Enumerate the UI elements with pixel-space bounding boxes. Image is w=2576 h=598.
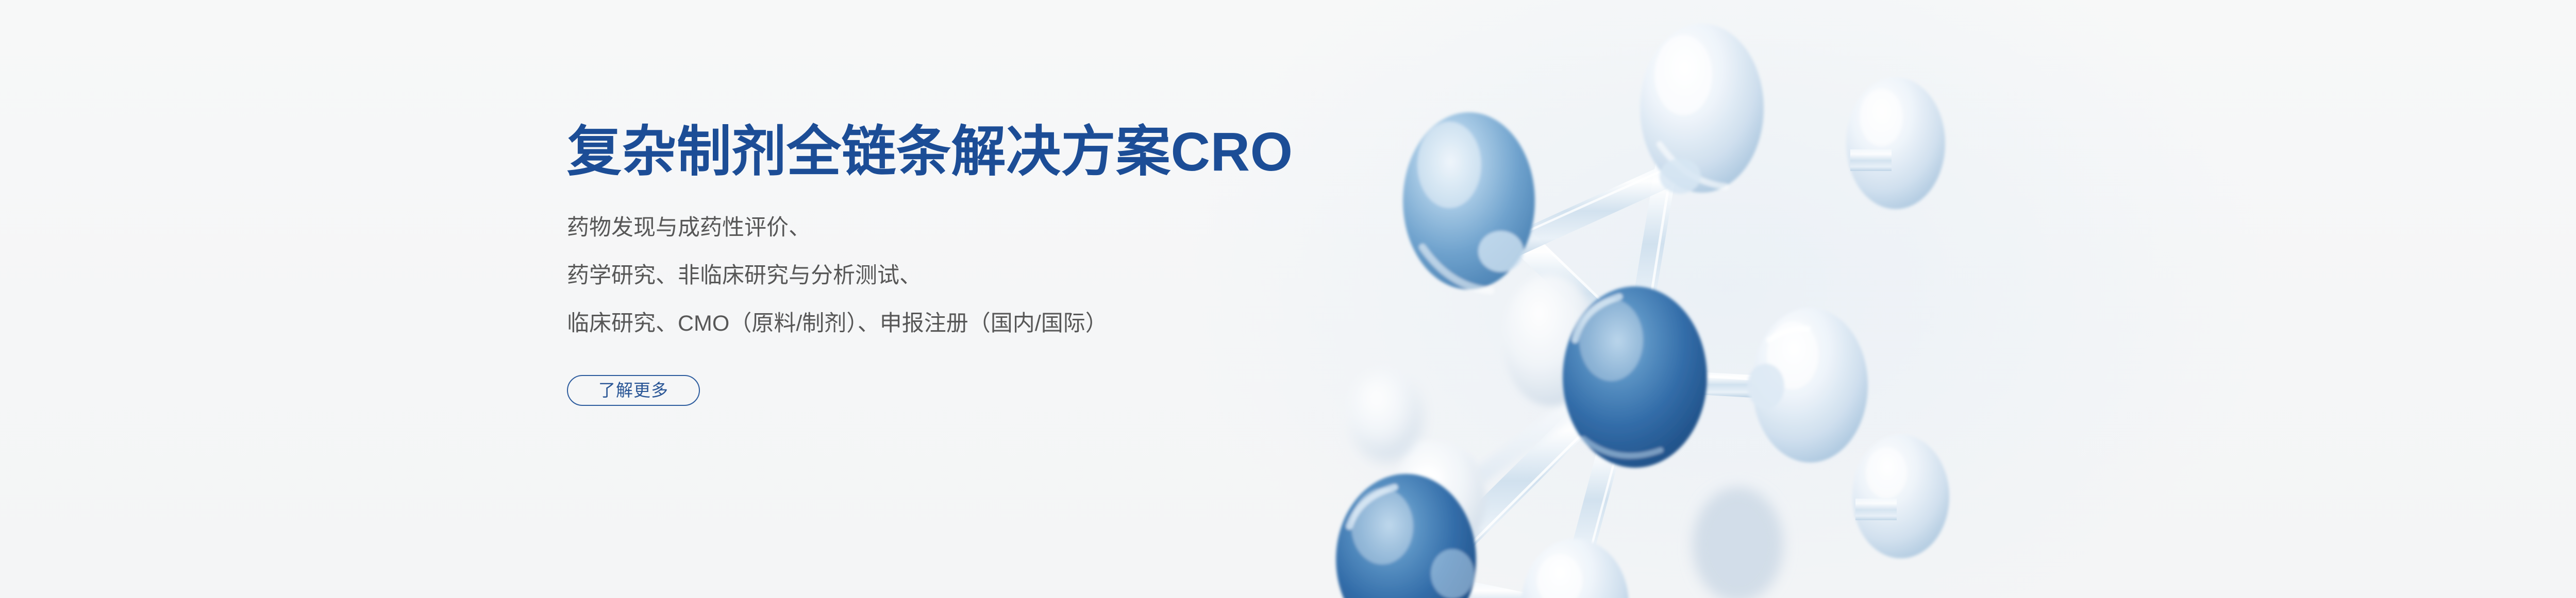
service-list: 药物发现与成药性评价、 药学研究、非临床研究与分析测试、 临床研究、CMO（原料… [567,217,1443,335]
service-list-item: 药学研究、非临床研究与分析测试、 [567,265,1443,287]
hero-banner: 复杂制剂全链条解决方案CRO 药物发现与成药性评价、 药学研究、非临床研究与分析… [0,0,2576,598]
molecule-bonds [1390,145,1752,598]
molecule-atom-center [1563,286,1707,468]
page-title: 复杂制剂全链条解决方案CRO [567,122,1443,183]
molecule-atom-far-right-top [1846,77,1945,209]
molecule-atom-top-center [1640,24,1764,194]
molecule-atom-blurred-left [1393,442,1485,557]
molecule-atom-blurred-right-shadow [1693,487,1783,598]
molecule-atom-bottom-center [1521,539,1629,598]
learn-more-button[interactable]: 了解更多 [567,375,700,406]
service-list-item: 药物发现与成药性评价、 [567,217,1443,239]
molecule-atom-far-right-bottom [1852,435,1949,558]
molecule-atom-blurred-mid [1503,274,1598,406]
service-list-item: 临床研究、CMO（原料/制剂）、申报注册（国内/国际） [567,313,1443,335]
molecule-atom-bottom-left [1336,474,1476,598]
hero-copy: 复杂制剂全链条解决方案CRO 药物发现与成药性评价、 药学研究、非临床研究与分析… [567,122,1443,406]
molecule-illustration [1319,0,2165,598]
molecule-atom-right [1747,308,1868,463]
